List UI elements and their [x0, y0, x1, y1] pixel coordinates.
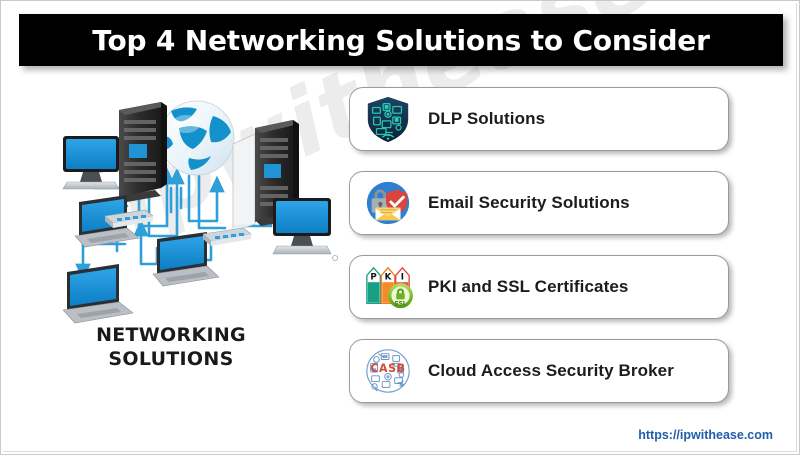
- card-pki-ssl-certificates[interactable]: P K I SSL PKI and SSL Certi: [349, 255, 729, 319]
- pki-tag-letter-p: P: [370, 272, 376, 282]
- pki-tag-letter-k: K: [385, 272, 392, 282]
- solutions-list: DLP Solutions: [349, 87, 729, 403]
- email-security-icon: [362, 177, 414, 229]
- laptop-lower-left: [63, 264, 133, 323]
- diagram-caption: NETWORKING SOLUTIONS: [21, 324, 321, 372]
- card-email-security-solutions[interactable]: Email Security Solutions: [349, 171, 729, 235]
- card-label-pki-ssl: PKI and SSL Certificates: [428, 277, 628, 297]
- network-switch-right: [203, 228, 251, 246]
- caption-line-1: NETWORKING: [21, 324, 321, 348]
- page-title: Top 4 Networking Solutions to Consider: [92, 24, 709, 57]
- desktop-monitor-left: [63, 136, 119, 189]
- server-rack-left: [119, 102, 167, 202]
- title-bar: Top 4 Networking Solutions to Consider: [19, 14, 783, 66]
- left-illustration-panel: NETWORKING SOLUTIONS: [21, 76, 341, 396]
- card-label-dlp: DLP Solutions: [428, 109, 545, 129]
- casb-circle-icon: CASB: [362, 345, 414, 397]
- casb-badge-text: CASB: [370, 362, 405, 375]
- pki-ssl-icon: P K I SSL: [362, 261, 414, 313]
- dlp-shield-icon: [362, 93, 414, 145]
- card-label-casb: Cloud Access Security Broker: [428, 361, 674, 381]
- footer-url[interactable]: https://ipwithease.com: [638, 428, 773, 442]
- desktop-monitor-right: [273, 198, 338, 261]
- networking-diagram: [21, 76, 341, 331]
- pki-tag-letter-i: I: [401, 272, 404, 282]
- card-cloud-access-security-broker[interactable]: CASB Cloud Access Security Broker: [349, 339, 729, 403]
- globe-icon: [160, 101, 234, 175]
- card-label-email-security: Email Security Solutions: [428, 193, 630, 213]
- card-dlp-solutions[interactable]: DLP Solutions: [349, 87, 729, 151]
- caption-line-2: SOLUTIONS: [21, 348, 321, 372]
- ssl-badge-text: SSL: [394, 300, 406, 307]
- poster-canvas: ipwithease.com Top 4 Networking Solution…: [0, 0, 800, 455]
